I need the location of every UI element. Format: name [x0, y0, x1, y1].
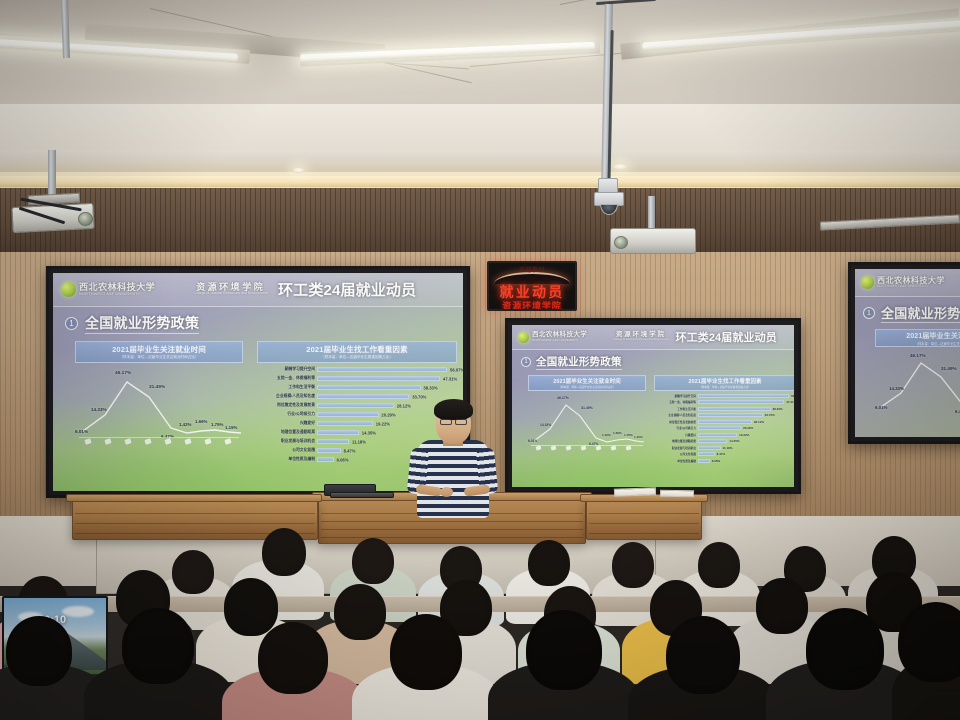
wall-slat-panel-dark	[0, 188, 960, 254]
bar-value: 6.06%	[337, 457, 349, 462]
bar-category: 行业/公司吸引力	[257, 412, 317, 417]
bar-fill	[317, 448, 341, 453]
section-title-right: 全国就业形势政策	[881, 303, 960, 323]
bar-category: 单位性质及编制	[654, 459, 698, 463]
deck-title-left: 环工类24届就业动员	[278, 279, 416, 300]
bar-category: 行业/公司吸引力	[654, 426, 698, 430]
bar-fill	[698, 452, 715, 456]
bar-chart-center: 薪酬学习提升空间 56.07% 五险一金、休假福利等 47.31%	[654, 393, 794, 465]
bar-row: 工作和生活平衡 38.33%	[654, 406, 794, 412]
bar-row: 公司文化氛围 8.47%	[654, 452, 794, 458]
slide-header-center: 西北农林科技大学 NORTHWEST A&F UNIVERSITY 资源环境学院…	[512, 325, 794, 350]
audience-head	[526, 610, 602, 690]
bar-fill	[698, 400, 784, 404]
panel-left-subheading: （样本量：单位—应届毕业生关注就业时间占比）	[558, 385, 615, 389]
line-label-8: 1.15%	[225, 425, 237, 430]
panel-left-heading: 2021届毕业生关注就业时间	[112, 344, 206, 355]
panel-left-header: 2021届毕业生关注就业时间 （样本量：单位—应届毕业生关注就业时间占比）	[875, 329, 960, 347]
bar-row: 企业规模/人员及知名度 33.70%	[654, 413, 794, 419]
bar-fill	[317, 457, 334, 462]
bar-fill	[698, 459, 710, 463]
audience-head	[898, 602, 960, 682]
bar-row: 行业/公司吸引力 20.29%	[654, 426, 794, 432]
line-label-1: 14.33%	[889, 386, 904, 391]
bar-row: 兴趣爱好 19.22%	[257, 420, 457, 427]
bar-fill	[698, 439, 727, 443]
bar-value: 47.31%	[786, 400, 794, 404]
bar-row: 地理位置及通勤距离 14.35%	[257, 429, 457, 436]
slide-right: 西北农林科技大学 NORTHWEST A&F UNIVERSITY 1 全国就业…	[855, 269, 960, 437]
papers-on-table	[614, 487, 656, 496]
university-logo-mark-icon	[518, 332, 529, 343]
line-label-6: 1.66%	[195, 419, 207, 424]
bar-track: 20.29%	[698, 426, 794, 430]
projector-mount-pole	[48, 150, 56, 198]
led-sign-line1: 欢迎参加	[489, 265, 575, 274]
bar-value: 28.12%	[754, 420, 764, 424]
bar-category: 工作和生活平衡	[654, 407, 698, 411]
bar-value: 8.47%	[717, 452, 726, 456]
bar-row: 岗位稳定性及发展前景 28.12%	[257, 402, 457, 409]
bar-track: 33.70%	[698, 413, 794, 417]
bar-track: 47.31%	[317, 376, 457, 381]
bar-row: 工作和生活平衡 38.33%	[257, 384, 457, 391]
bar-row: 薪酬学习提升空间 56.07%	[257, 366, 457, 373]
line-label-0: 6.01%	[528, 439, 537, 443]
bar-row: 薪酬学习提升空间 56.07%	[654, 393, 794, 399]
screen-left-surface: 西北农林科技大学 NORTHWEST A&F UNIVERSITY 资源环境学院…	[53, 273, 463, 491]
bar-track: 6.06%	[698, 459, 794, 463]
audience-head	[666, 616, 740, 694]
line-label-3: 31.49%	[149, 385, 165, 390]
university-logo-right: 西北农林科技大学 NORTHWEST A&F UNIVERSITY	[861, 276, 945, 289]
bar-value: 47.31%	[443, 376, 457, 381]
line-chart-path-left	[75, 365, 243, 443]
bar-row: 五险一金、休假福利等 47.31%	[257, 375, 457, 382]
screen-right-surface: 西北农林科技大学 NORTHWEST A&F UNIVERSITY 1 全国就业…	[855, 269, 960, 437]
bar-row: 职业发展与培训机会 11.18%	[654, 445, 794, 451]
bar-row: 兴趣爱好 19.22%	[654, 432, 794, 438]
section-number-badge: 1	[65, 317, 78, 330]
panel-left-line: 2021届毕业生关注就业时间 （样本量：单位—应届毕业生关注就业时间占比） 6.…	[75, 341, 243, 363]
screen-center-surface: 西北农林科技大学 NORTHWEST A&F UNIVERSITY 资源环境学院…	[512, 325, 794, 487]
wall-upper	[0, 104, 960, 156]
bar-category: 地理位置及通勤距离	[654, 439, 698, 443]
ceiling-downlight-1	[612, 163, 628, 170]
bar-fill	[698, 420, 752, 424]
bar-fill	[317, 439, 349, 444]
bar-fill	[317, 394, 409, 399]
presenter-hair	[434, 399, 473, 420]
bar-value: 11.18%	[723, 446, 733, 450]
lecture-hall-photo: 欢迎参加 就业动员 资源环境学院 西北农林科技大学 NORTHWEST A&F …	[0, 0, 960, 720]
line-label-3: 31.49%	[581, 406, 593, 410]
bar-track: 38.33%	[317, 385, 457, 390]
cove-light-strip	[0, 176, 960, 187]
bar-row: 地理位置及通勤距离 14.35%	[654, 439, 794, 445]
bar-row: 企业规模/人员及知名度 33.70%	[257, 393, 457, 400]
university-logo-mark-icon	[861, 276, 874, 289]
bar-row: 五险一金、休假福利等 47.31%	[654, 400, 794, 406]
bar-category: 公司文化氛围	[257, 448, 317, 453]
line-label-0: 6.01%	[875, 405, 887, 410]
panel-right-bar: 2021届毕业生找工作看重因素 （样本量：单位—应届毕业生看重因素占比） 薪酬学…	[257, 341, 457, 363]
bar-value: 20.29%	[743, 426, 753, 430]
line-label-8: 1.15%	[634, 435, 643, 439]
bar-value: 56.07%	[450, 367, 463, 372]
bar-category: 企业规模/人员及知名度	[257, 394, 317, 399]
bar-track: 19.22%	[698, 433, 794, 437]
panel-right-bar-center: 2021届毕业生找工作看重因素 （样本量：单位—应届毕业生看重因素占比） 薪酬学…	[654, 375, 794, 391]
bar-value: 14.35%	[729, 439, 739, 443]
projector-lens	[78, 212, 93, 226]
bar-value: 6.06%	[712, 459, 721, 463]
line-label-6: 1.66%	[613, 431, 622, 435]
university-logo-center: 西北农林科技大学 NORTHWEST A&F UNIVERSITY	[518, 332, 587, 343]
bar-fill	[698, 426, 741, 430]
bar-fill	[698, 446, 721, 450]
bar-category: 岗位稳定性及发展前景	[654, 420, 698, 424]
panel-left-header: 2021届毕业生关注就业时间 （样本量：单位—应届毕业生关注就业时间占比）	[528, 375, 646, 391]
bar-value: 20.29%	[381, 412, 395, 417]
bar-fill	[317, 430, 359, 435]
slide-center: 西北农林科技大学 NORTHWEST A&F UNIVERSITY 资源环境学院…	[512, 325, 794, 487]
panel-left-subheading: （样本量：单位—应届毕业生关注就业时间占比）	[915, 341, 960, 346]
university-name-en: NORTHWEST A&F UNIVERSITY	[532, 339, 587, 342]
projector-lens-right	[614, 236, 628, 249]
bar-category: 五险一金、休假福利等	[654, 400, 698, 404]
audience-front-row	[0, 606, 960, 720]
bar-fill	[698, 413, 763, 417]
bar-category: 兴趣爱好	[257, 421, 317, 426]
section-number-badge: 1	[521, 357, 531, 367]
side-table-left-top	[66, 494, 322, 502]
bar-fill	[317, 367, 447, 372]
bar-fill	[317, 403, 394, 408]
section-header-left: 1 全国就业形势政策	[65, 313, 199, 334]
bar-track: 47.31%	[698, 400, 794, 404]
panel-left-header: 2021届毕业生关注就业时间 （样本量：单位—应届毕业生关注就业时间占比）	[75, 341, 243, 363]
college-name-en: College of Natural Resources and Environ…	[193, 292, 268, 296]
line-chart-path-right	[875, 349, 960, 419]
audience-head	[122, 608, 194, 684]
line-label-2: 46.17%	[910, 353, 926, 358]
presenter-glasses-right	[455, 419, 467, 425]
bar-value: 19.22%	[376, 421, 390, 426]
panel-left-subheading: （样本量：单位—应届毕业生关注就业时间占比）	[119, 355, 198, 360]
bar-value: 33.70%	[412, 394, 426, 399]
section-header-right: 1 全国就业形势政策	[863, 303, 960, 323]
university-logo-left: 西北农林科技大学 NORTHWEST A&F UNIVERSITY	[61, 282, 155, 297]
section-header-center: 1 全国就业形势政策	[521, 354, 622, 370]
line-chart-center: 6.01% 14.33% 46.17% 31.49% 6.47% 1.42% 1…	[528, 393, 646, 449]
slide-left: 西北农林科技大学 NORTHWEST A&F UNIVERSITY 资源环境学院…	[53, 273, 463, 491]
panel-right-heading: 2021届毕业生找工作看重因素	[306, 344, 407, 355]
line-label-7: 1.75%	[624, 433, 633, 437]
bar-category: 公司文化氛围	[654, 452, 698, 456]
college-name-center: 资源环境学院 College of Natural Resources and …	[613, 332, 668, 342]
bar-fill	[698, 407, 771, 411]
bar-value: 8.47%	[344, 448, 356, 453]
line-label-4: 6.47%	[955, 409, 960, 414]
section-title-center: 全国就业形势政策	[536, 354, 622, 370]
line-label-2: 46.17%	[115, 371, 131, 376]
panel-left-heading: 2021届毕业生关注就业时间	[906, 331, 960, 341]
ceiling-downlight-2	[292, 167, 305, 173]
line-label-3: 31.49%	[941, 366, 957, 371]
bar-row: 行业/公司吸引力 20.29%	[257, 411, 457, 418]
line-label-7: 1.75%	[211, 422, 223, 427]
bar-track: 28.12%	[698, 420, 794, 424]
audience-head	[806, 608, 884, 690]
bar-value: 14.35%	[362, 430, 376, 435]
bar-track: 14.35%	[698, 439, 794, 443]
line-label-5: 1.42%	[602, 433, 611, 437]
bar-category: 企业规模/人员及知名度	[654, 413, 698, 417]
bar-track: 38.33%	[698, 407, 794, 411]
college-name-en: College of Natural Resources and Environ…	[613, 339, 668, 342]
panel-right-heading: 2021届毕业生找工作看重因素	[689, 377, 762, 385]
panel-right-header: 2021届毕业生找工作看重因素 （样本量：单位—应届毕业生看重因素占比）	[654, 375, 794, 391]
bar-track: 56.07%	[317, 367, 457, 372]
panel-left-line-right: 2021届毕业生关注就业时间 （样本量：单位—应届毕业生关注就业时间占比） 6.…	[875, 329, 960, 347]
projection-screen-center: 西北农林科技大学 NORTHWEST A&F UNIVERSITY 资源环境学院…	[505, 318, 801, 494]
led-sign-line3: 资源环境学院	[489, 299, 575, 311]
bar-category: 岗位稳定性及发展前景	[257, 403, 317, 408]
bar-fill	[698, 433, 737, 437]
bar-row: 单位性质及编制 6.06%	[654, 458, 794, 464]
projector-mount-pole-right	[648, 196, 655, 232]
bar-fill	[317, 412, 379, 417]
bar-category: 职业发展与培训机会	[257, 439, 317, 444]
bar-track: 33.70%	[317, 394, 457, 399]
bar-fill	[317, 385, 421, 390]
bar-category: 薪酬学习提升空间	[257, 367, 317, 372]
bar-fill	[317, 421, 373, 426]
panel-right-header: 2021届毕业生找工作看重因素 （样本量：单位—应届毕业生看重因素占比）	[257, 341, 457, 363]
bar-value: 28.12%	[397, 403, 411, 408]
slide-header-left: 西北农林科技大学 NORTHWEST A&F UNIVERSITY 资源环境学院…	[53, 273, 463, 307]
bar-category: 职业发展与培训机会	[654, 446, 698, 450]
bar-category: 工作和生活平衡	[257, 385, 317, 390]
presenter-hand	[440, 487, 453, 497]
bar-value: 11.18%	[352, 439, 366, 444]
section-title-left: 全国就业形势政策	[85, 313, 199, 334]
line-label-1: 14.33%	[540, 423, 551, 427]
presenter-glasses	[440, 419, 452, 425]
bar-category: 薪酬学习提升空间	[654, 394, 698, 398]
bar-row: 岗位稳定性及发展前景 28.12%	[654, 419, 794, 425]
led-scrolling-sign: 欢迎参加 就业动员 资源环境学院	[487, 261, 577, 311]
bar-track: 56.07%	[698, 394, 794, 398]
bar-category: 单位性质及编制	[257, 457, 317, 462]
section-number-badge: 1	[863, 307, 875, 319]
slide-header-right: 西北农林科技大学 NORTHWEST A&F UNIVERSITY	[855, 269, 960, 297]
panel-left-heading: 2021届毕业生关注就业时间	[553, 377, 620, 385]
bar-value: 38.33%	[772, 407, 782, 411]
bar-category: 五险一金、休假福利等	[257, 376, 317, 381]
bar-track: 8.47%	[698, 452, 794, 456]
deck-title-center: 环工类24届就业动员	[675, 329, 776, 345]
audience-head	[258, 622, 328, 694]
projection-screen-left: 西北农林科技大学 NORTHWEST A&F UNIVERSITY 资源环境学院…	[46, 266, 470, 498]
bar-value: 19.22%	[739, 433, 749, 437]
console-keyboard[interactable]	[330, 492, 394, 498]
panel-right-subheading: （样本量：单位—应届毕业生看重因素占比）	[321, 355, 393, 360]
bar-value: 38.33%	[423, 385, 437, 390]
university-name-en: NORTHWEST A&F UNIVERSITY	[877, 285, 945, 289]
audience-head	[6, 616, 72, 686]
college-name-left: 资源环境学院 College of Natural Resources and …	[193, 283, 268, 296]
line-chart-left: 6.01% 14.33% 46.17% 31.49% 6.47% 1.42% 1…	[75, 365, 243, 443]
bar-fill	[317, 376, 440, 381]
university-logo-mark-icon	[61, 282, 76, 297]
bar-value: 56.07%	[791, 394, 794, 398]
bar-fill	[698, 394, 789, 398]
line-label-2: 46.17%	[557, 396, 569, 400]
papers-on-table-2	[660, 490, 694, 498]
bar-category: 兴趣爱好	[654, 433, 698, 437]
university-name-en: NORTHWEST A&F UNIVERSITY	[79, 292, 155, 296]
panel-right-subheading: （样本量：单位—应届毕业生看重因素占比）	[699, 385, 751, 389]
line-label-0: 6.01%	[75, 429, 88, 434]
line-label-5: 1.42%	[179, 422, 191, 427]
line-label-1: 14.33%	[91, 407, 107, 412]
projection-screen-right: 西北农林科技大学 NORTHWEST A&F UNIVERSITY 1 全国就业…	[848, 262, 960, 444]
panel-left-line-center: 2021届毕业生关注就业时间 （样本量：单位—应届毕业生关注就业时间占比） 6.…	[528, 375, 646, 391]
bar-track: 11.18%	[698, 446, 794, 450]
bar-category: 地理位置及通勤距离	[257, 430, 317, 435]
line-chart-path-center	[528, 393, 646, 449]
audience-head	[390, 614, 462, 690]
bar-value: 33.70%	[765, 413, 775, 417]
line-chart-right: 6.01% 14.33% 46.17% 31.49% 6.47%	[875, 349, 960, 419]
